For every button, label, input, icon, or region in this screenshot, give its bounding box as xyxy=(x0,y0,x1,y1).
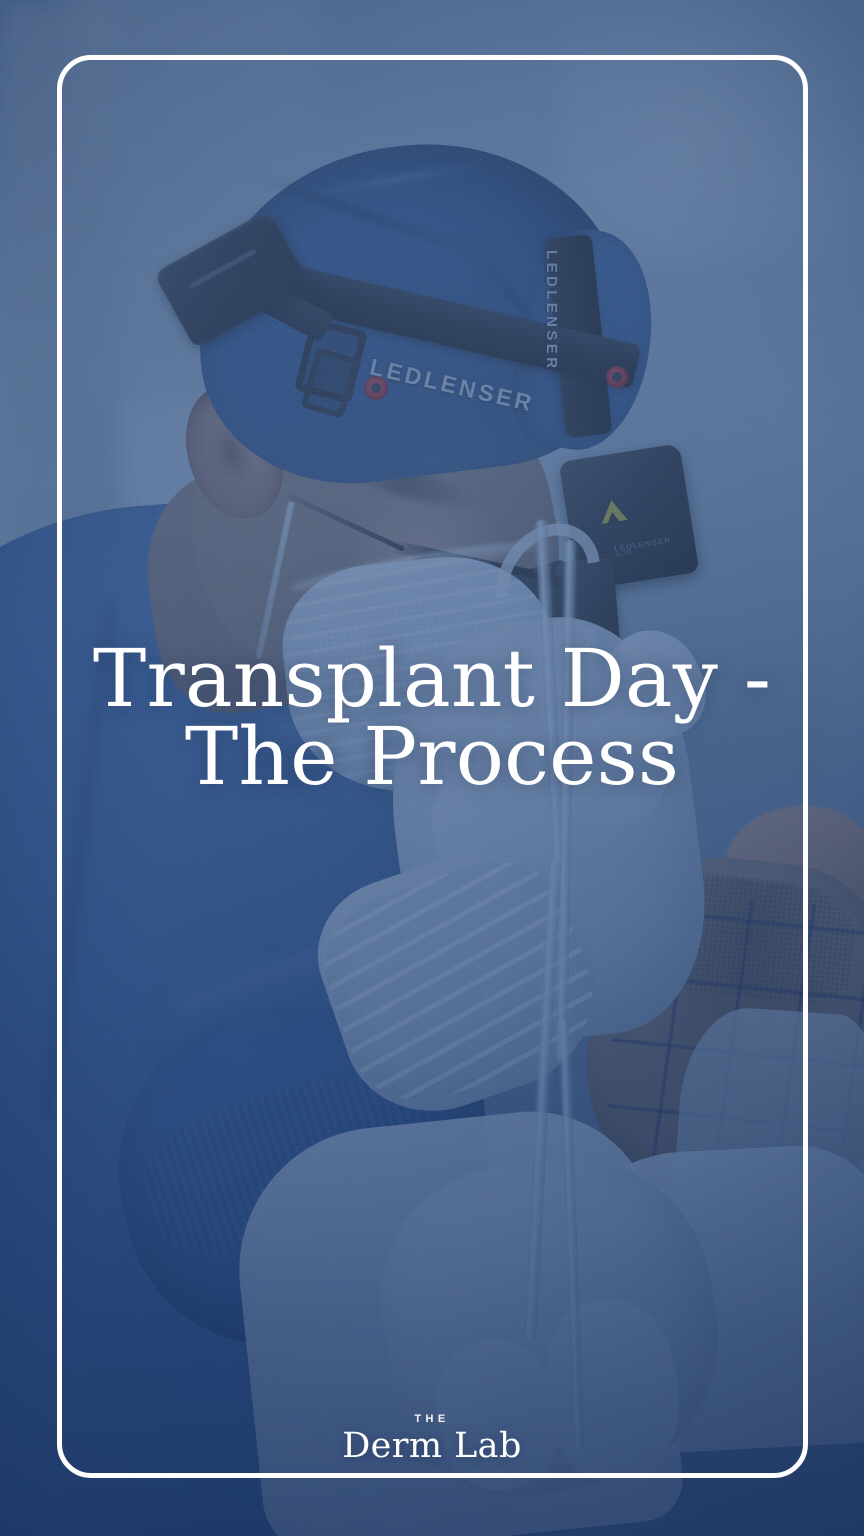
brand-logo: THE Derm Lab xyxy=(0,1413,864,1464)
poster-canvas: LEDLENSER LEDLENSER LEDLENSER H7R xyxy=(0,0,864,1536)
brand-logo-prefix: THE xyxy=(0,1413,864,1425)
brand-logo-name: Derm Lab xyxy=(0,1429,864,1464)
page-title-line-2: The Process xyxy=(0,718,864,796)
page-title: Transplant Day - The Process xyxy=(0,640,864,797)
page-title-line-1: Transplant Day - xyxy=(0,640,864,718)
